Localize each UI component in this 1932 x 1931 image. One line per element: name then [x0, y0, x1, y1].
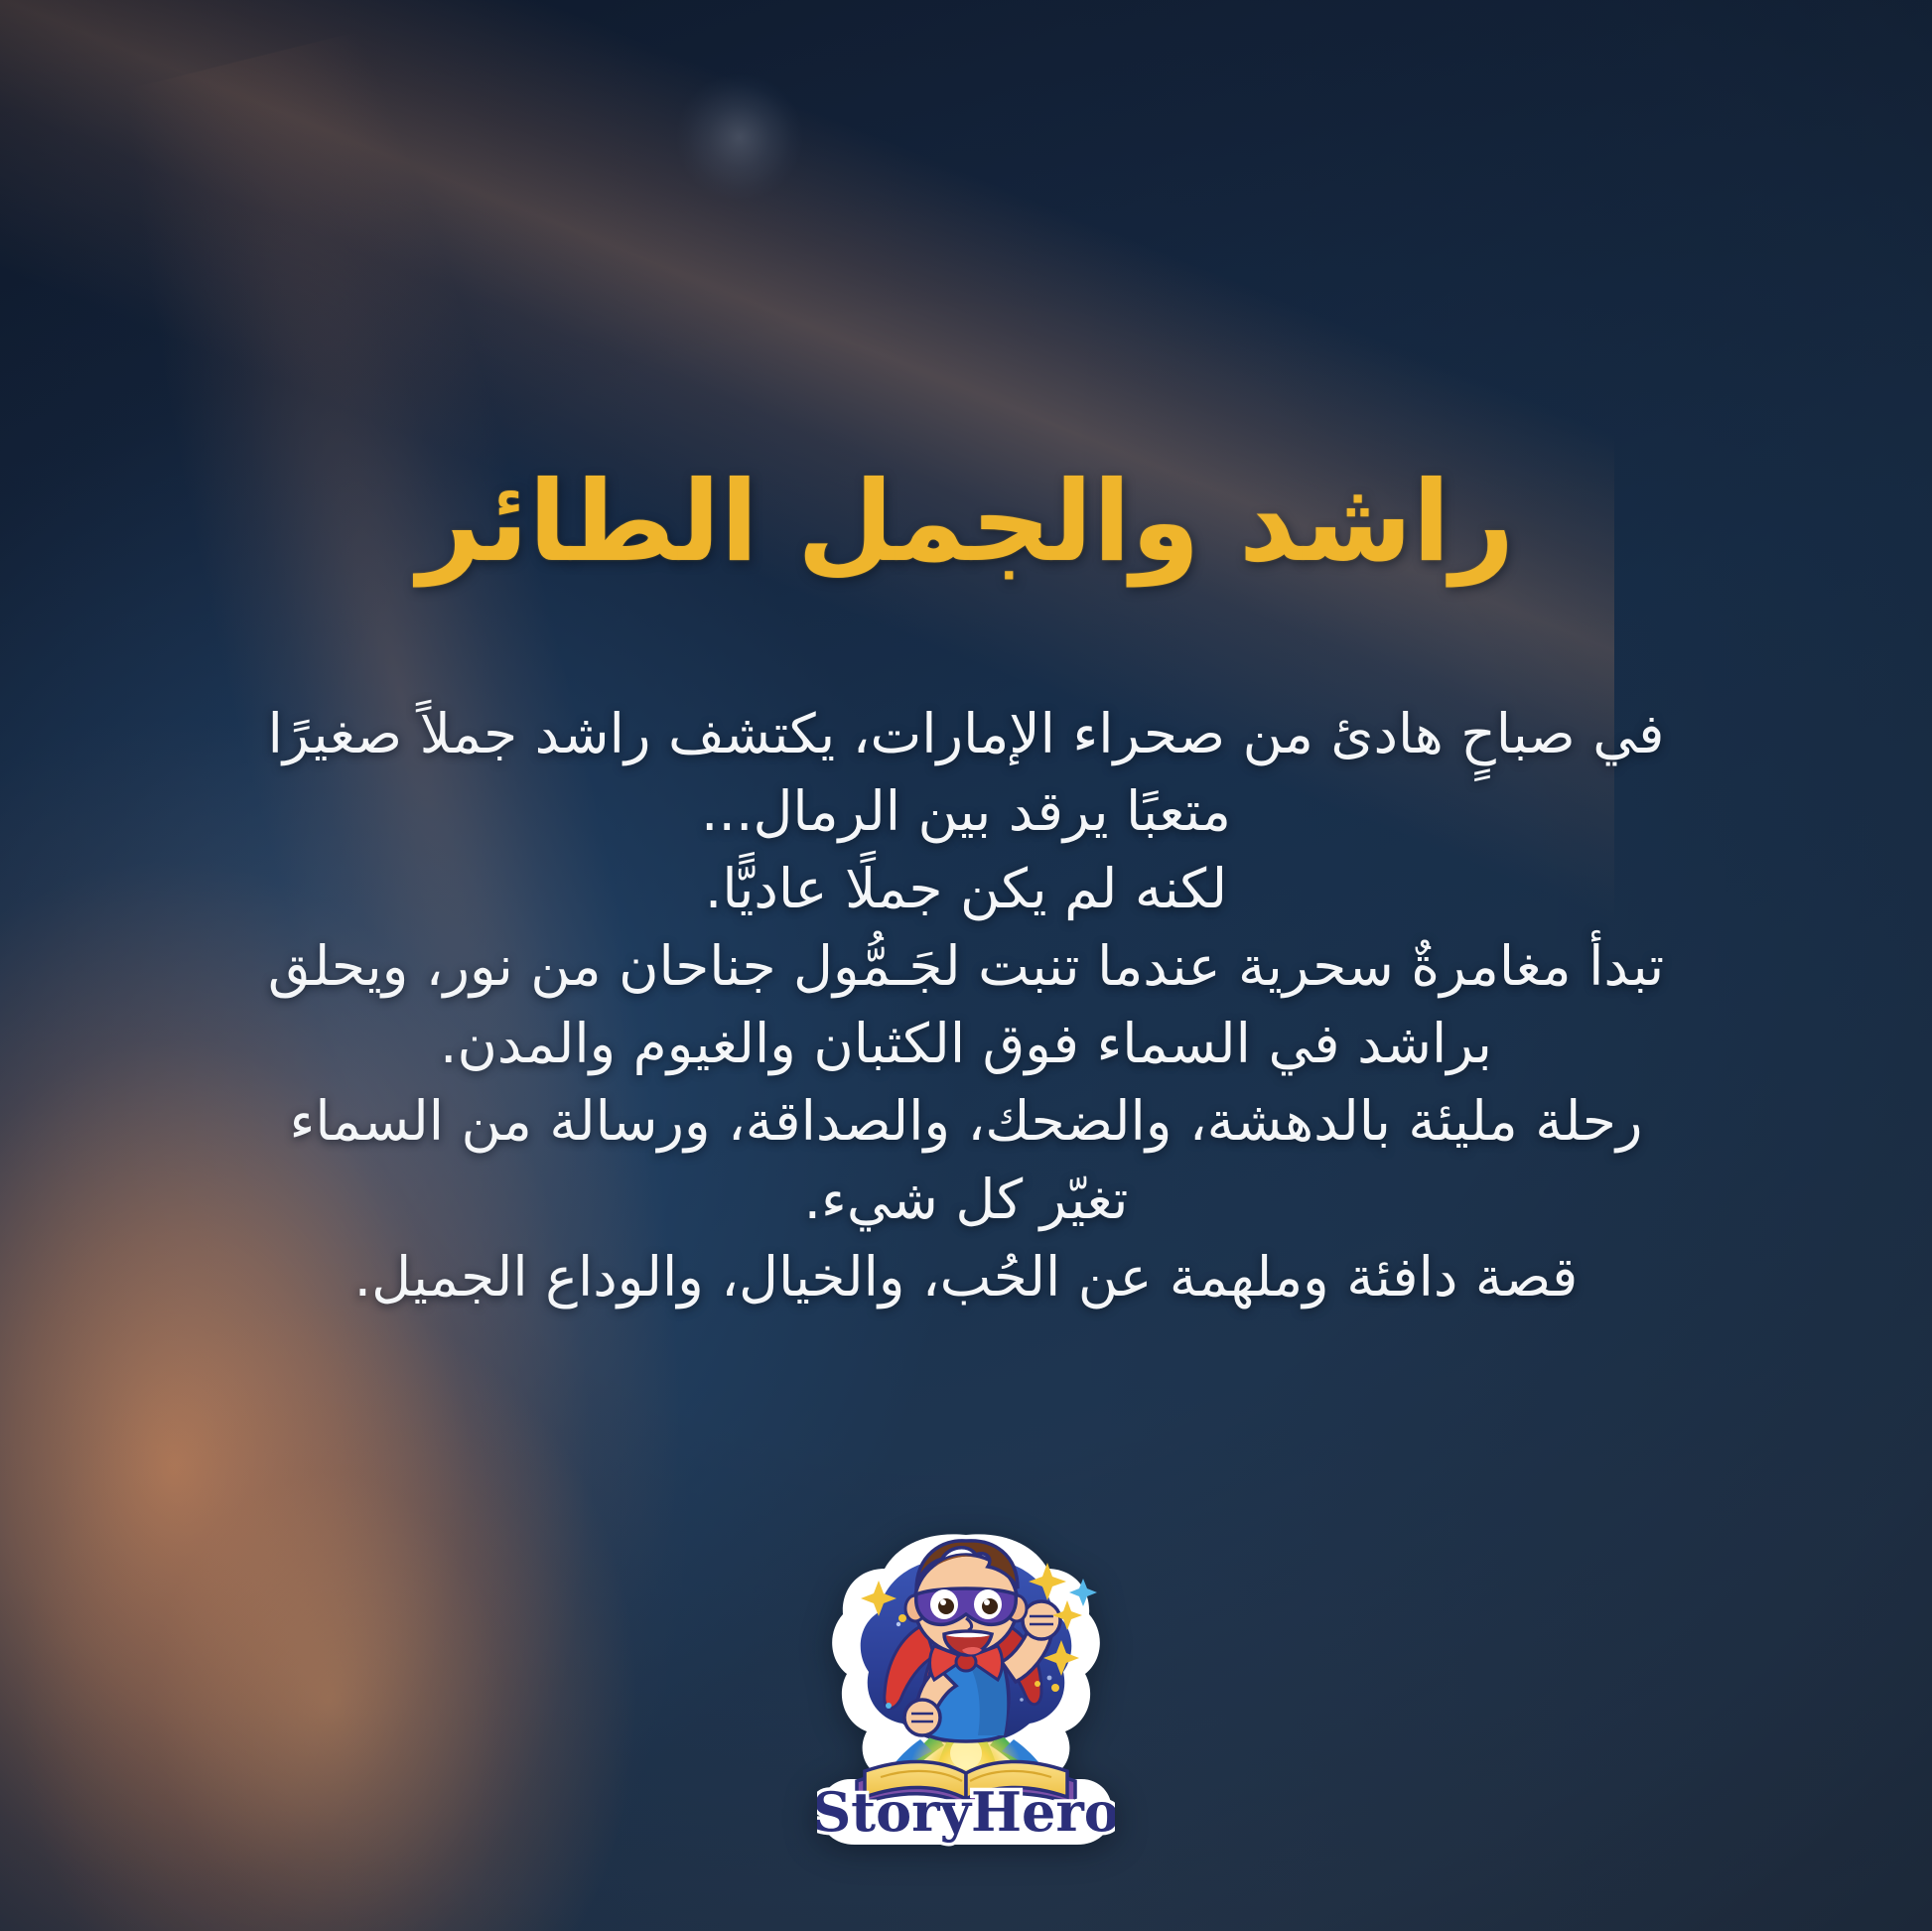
synopsis-line-7: تغيّر كل شيء. [119, 1161, 1813, 1238]
story-poster: راشد والجمل الطائر في صباحٍ هادئ من صحرا… [0, 0, 1932, 1931]
synopsis-line-2: متعبًا يرقد بين الرمال... [119, 772, 1813, 850]
storyhero-logo: StoryHero [817, 1529, 1115, 1857]
storyhero-wordmark: StoryHero [817, 1780, 1115, 1844]
story-title: راشد والجمل الطائر [0, 467, 1932, 578]
synopsis-line-8: قصة دافئة وملهمة عن الحُب، والخيال، والو… [119, 1238, 1813, 1315]
synopsis-line-3: لكنه لم يكن جملًا عاديًّا. [119, 850, 1813, 927]
poster-content: راشد والجمل الطائر في صباحٍ هادئ من صحرا… [0, 0, 1932, 1931]
synopsis-line-4: تبدأ مغامرةٌ سحرية عندما تنبت لجَـمُّول … [119, 927, 1813, 1005]
storyhero-logo-icon: StoryHero [817, 1529, 1115, 1857]
synopsis-line-1: في صباحٍ هادئ من صحراء الإمارات، يكتشف ر… [119, 695, 1813, 772]
synopsis-line-5: براشد في السماء فوق الكثبان والغيوم والم… [119, 1005, 1813, 1082]
synopsis-line-6: رحلة مليئة بالدهشة، والضحك، والصداقة، ور… [119, 1082, 1813, 1160]
story-synopsis: في صباحٍ هادئ من صحراء الإمارات، يكتشف ر… [119, 695, 1813, 1315]
